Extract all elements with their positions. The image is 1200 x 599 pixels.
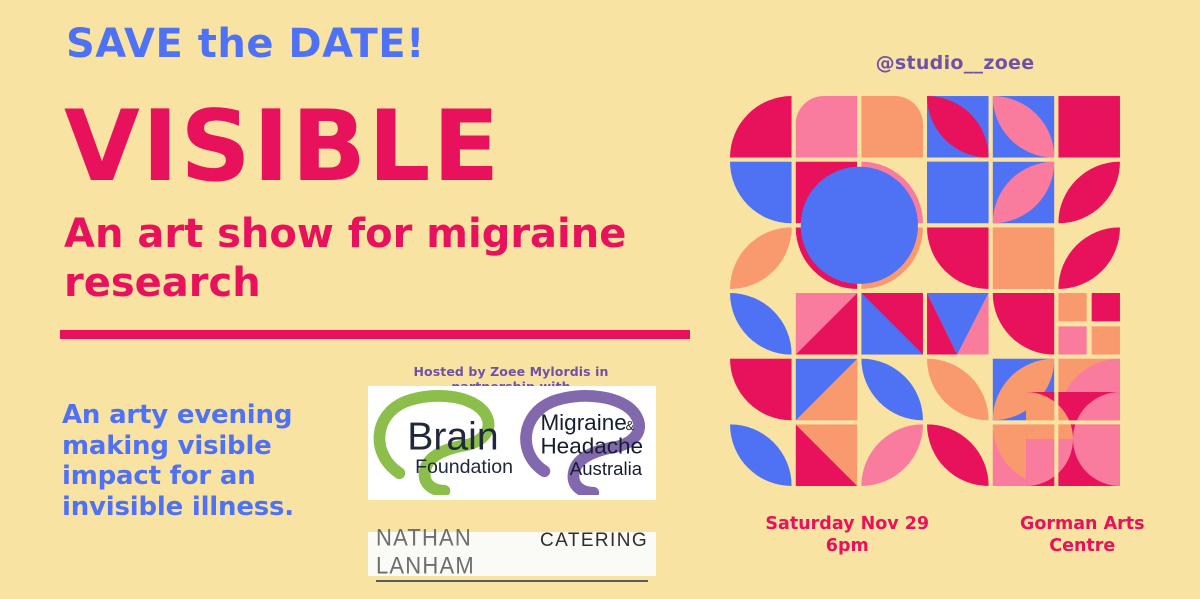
brain-word-sub: Foundation [415,456,513,478]
migraine-headache-australia-logo: Migraine & Headache Australia [515,389,652,497]
instagram-handle: @studio__zoee [710,52,1200,74]
page-title: VISIBLE [64,98,501,196]
page-subtitle: An art show for migraine research [64,210,664,308]
divider-rule [60,330,690,339]
event-footer: Saturday Nov 29 6pm Gorman Arts Centre [720,514,1190,558]
right-column: @studio__zoee [710,0,1200,599]
catering-word: CATERING [540,530,648,552]
event-date: Saturday Nov 29 6pm [765,514,929,558]
save-the-date-eyebrow: SAVE the DATE! [66,24,425,64]
mha-line1: Migraine [540,410,626,435]
geometric-pattern-artwork [728,92,1122,490]
event-blurb: An arty evening making visible impact fo… [62,400,352,523]
mha-amp: & [626,418,635,433]
catering-underline [376,580,648,582]
brain-foundation-logo: Brain Foundation [372,389,515,497]
left-column: SAVE the DATE! VISIBLE An art show for m… [0,0,710,599]
brain-word-main: Brain [407,416,498,459]
mha-line2: Headache [540,434,643,459]
mha-line3: Australia [570,458,643,479]
catering-name: NATHAN LANHAM [376,524,534,580]
catering-logo-card: NATHAN LANHAM CATERING [368,532,656,576]
poster: SAVE the DATE! VISIBLE An art show for m… [0,0,1200,599]
event-venue: Gorman Arts Centre [1020,514,1145,558]
partner-logo-card: Brain Foundation Migraine & Headache Aus… [368,386,656,500]
